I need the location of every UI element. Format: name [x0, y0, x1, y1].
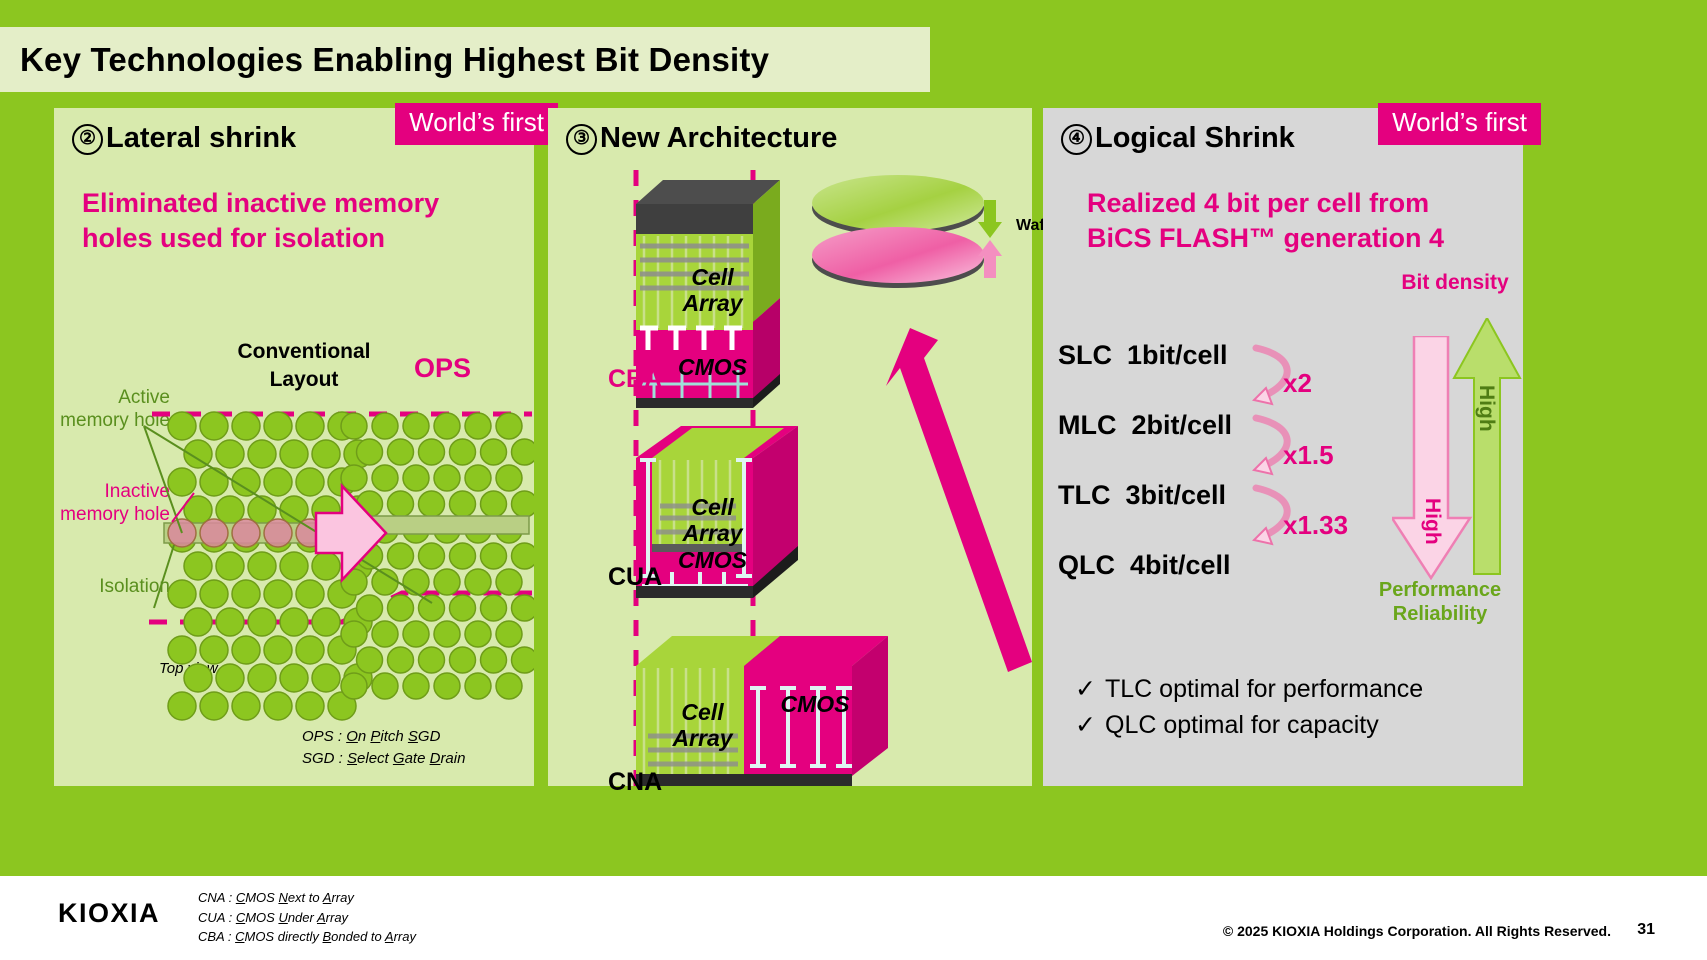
cell-bits-tlc: 3bit/cell [1126, 480, 1227, 510]
multiplier-x2: x2 [1283, 368, 1312, 399]
panel3-title: ④Logical Shrink [1061, 122, 1295, 155]
bit-density-label: Bit density [1390, 270, 1520, 295]
check-icon: ✓ [1075, 672, 1105, 708]
performance-arrow-high-text: High [1474, 385, 1498, 432]
check-icon: ✓ [1075, 708, 1105, 744]
cell-row-tlc: TLC 3bit/cell [1058, 480, 1226, 511]
footnote-cua: CUA : CMOS Under Array [198, 908, 416, 928]
cell-row-qlc: QLC 4bit/cell [1058, 550, 1231, 581]
panel-lateral-shrink: ②Lateral shrink World’s first Eliminated… [54, 108, 534, 786]
panel3-check-list: ✓TLC optimal for performance ✓QLC optima… [1075, 672, 1423, 743]
kioxia-logo: KIOXIA [58, 898, 160, 929]
check-item-tlc: ✓TLC optimal for performance [1075, 672, 1423, 708]
cell-name-mlc: MLC [1058, 410, 1116, 440]
cell-bits-mlc: 2bit/cell [1132, 410, 1233, 440]
footer-abbreviation-notes: CNA : CMOS Next to Array CUA : CMOS Unde… [198, 888, 416, 947]
cell-name-slc: SLC [1058, 340, 1112, 370]
cell-row-slc: SLC 1bit/cell [1058, 340, 1228, 371]
row-label-cua: CUA [608, 563, 662, 592]
page-title: Key Technologies Enabling Highest Bit De… [20, 41, 769, 79]
bit-density-arrow-high-text: High [1420, 498, 1444, 545]
slide-footer: KIOXIA CNA : CMOS Next to Array CUA : CM… [0, 876, 1707, 960]
row-label-cna: CNA [608, 768, 662, 797]
row-label-cba: CBA [608, 365, 662, 394]
footer-page-number: 31 [1637, 921, 1655, 939]
multiplier-x133: x1.33 [1283, 510, 1348, 541]
cell-bits-slc: 1bit/cell [1127, 340, 1228, 370]
reduced-overhead-arrow [880, 310, 1040, 680]
panel3-lead-text: Realized 4 bit per cell from BiCS FLASH™… [1087, 186, 1497, 255]
panel3-worlds-first-badge: World’s first [1378, 103, 1541, 145]
panel3-title-text: Logical Shrink [1095, 122, 1295, 154]
wafer-bonding-illustration [800, 170, 1050, 290]
cell-name-tlc: TLC [1058, 480, 1110, 510]
footnote-cna: CNA : CMOS Next to Array [198, 888, 416, 908]
cell-name-qlc: QLC [1058, 550, 1115, 580]
check-item-qlc-text: QLC optimal for capacity [1105, 711, 1379, 739]
cell-bits-qlc: 4bit/cell [1130, 550, 1231, 580]
performance-reliability-label: Performance Reliability [1350, 578, 1530, 627]
performance-arrow [1452, 318, 1522, 576]
panel3-number: ④ [1061, 124, 1092, 155]
slide-canvas: Key Technologies Enabling Highest Bit De… [0, 0, 1707, 960]
check-item-tlc-text: TLC optimal for performance [1105, 675, 1423, 703]
lateral-shrink-diagram [54, 108, 534, 786]
slide-title-bar: Key Technologies Enabling Highest Bit De… [0, 27, 930, 92]
check-item-qlc: ✓QLC optimal for capacity [1075, 708, 1423, 744]
footer-copyright: © 2025 KIOXIA Holdings Corporation. All … [1223, 923, 1611, 939]
multiplier-x15: x1.5 [1283, 440, 1334, 471]
panel3-header: ④Logical Shrink World’s first [1043, 108, 1523, 166]
cell-row-mlc: MLC 2bit/cell [1058, 410, 1232, 441]
footnote-cba: CBA : CMOS directly Bonded to Array [198, 927, 416, 947]
bit-density-label-text: Bit density [1401, 271, 1508, 294]
